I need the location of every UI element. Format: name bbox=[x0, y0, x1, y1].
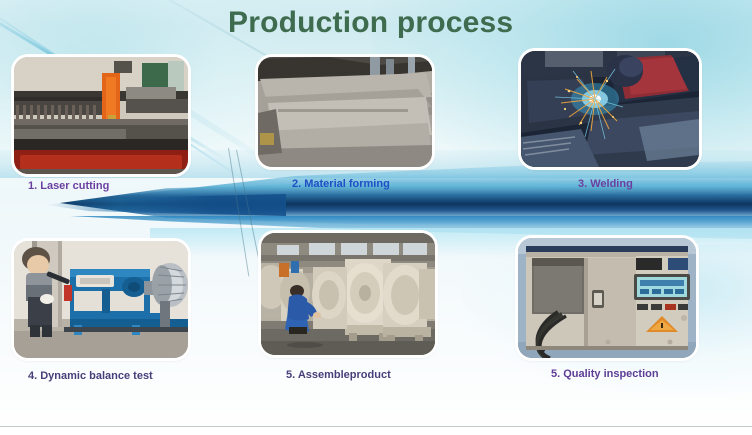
swoosh-tail bbox=[46, 194, 286, 216]
step-caption-dynamic-balance-test: 4. Dynamic balance test bbox=[28, 370, 153, 382]
step-caption-laser-cutting: 1. Laser cutting bbox=[28, 180, 109, 192]
assembly-illustration bbox=[261, 233, 435, 355]
laser-cutting-illustration bbox=[14, 57, 188, 174]
production-process-slide: Production process bbox=[0, 0, 752, 435]
page-title: Production process bbox=[228, 6, 513, 40]
step-image-laser-cutting bbox=[14, 57, 188, 174]
step-image-welding bbox=[521, 51, 699, 167]
step-image-material-forming bbox=[258, 57, 432, 167]
dynamic-balance-illustration bbox=[14, 241, 188, 358]
quality-inspection-illustration bbox=[518, 238, 696, 358]
material-forming-illustration bbox=[258, 57, 432, 167]
welding-illustration bbox=[521, 51, 699, 167]
step-caption-welding: 3. Welding bbox=[578, 178, 633, 190]
bottom-divider bbox=[0, 426, 752, 427]
step-image-assemble-product bbox=[261, 233, 435, 355]
step-caption-assemble-product: 5. Assembleproduct bbox=[286, 369, 391, 381]
step-caption-quality-inspection: 5. Quality inspection bbox=[551, 368, 659, 380]
step-image-quality-inspection bbox=[518, 238, 696, 358]
step-image-dynamic-balance-test bbox=[14, 241, 188, 358]
step-caption-material-forming: 2. Material forming bbox=[292, 178, 390, 190]
